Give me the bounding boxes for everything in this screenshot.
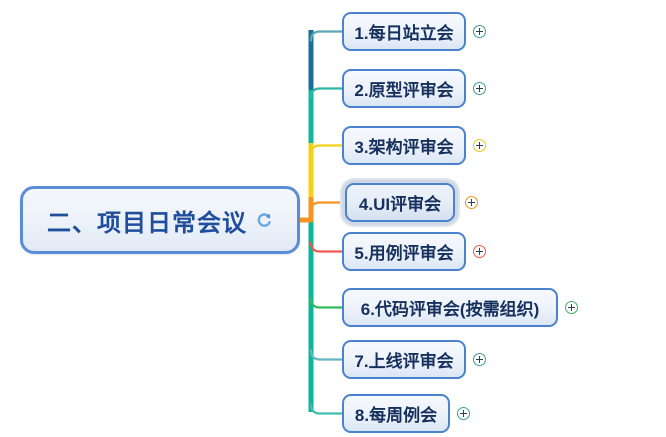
branch-line-5 bbox=[311, 243, 343, 252]
plus-icon-vertical-3 bbox=[479, 142, 480, 149]
child-node-label-1: 1.每日站立会 bbox=[354, 19, 453, 44]
child-node-label-3: 3.架构评审会 bbox=[354, 133, 453, 158]
branch-line-1 bbox=[311, 32, 343, 41]
root-node[interactable]: 二、项目日常会议 bbox=[20, 186, 300, 254]
expand-toggle-7[interactable] bbox=[473, 353, 486, 366]
plus-icon-vertical-7 bbox=[479, 356, 480, 363]
branch-line-3 bbox=[311, 146, 343, 155]
expand-toggle-4[interactable] bbox=[465, 196, 478, 209]
child-node-8[interactable]: 8.每周例会 bbox=[342, 394, 450, 433]
child-node-label-6: 6.代码评审会(按需组织) bbox=[361, 295, 540, 320]
child-node-label-5: 5.用例评审会 bbox=[354, 239, 453, 264]
root-node-label: 二、项目日常会议 bbox=[47, 203, 247, 238]
child-node-label-7: 7.上线评审会 bbox=[354, 347, 453, 372]
child-node-1[interactable]: 1.每日站立会 bbox=[342, 12, 466, 51]
refresh-icon bbox=[255, 211, 273, 229]
branch-line-2 bbox=[311, 89, 343, 98]
plus-icon-vertical-1 bbox=[479, 28, 480, 35]
child-node-2[interactable]: 2.原型评审会 bbox=[342, 69, 466, 108]
expand-toggle-1[interactable] bbox=[473, 25, 486, 38]
child-node-label-2: 2.原型评审会 bbox=[354, 76, 453, 101]
child-node-label-4: 4.UI评审会 bbox=[359, 190, 441, 215]
child-node-4[interactable]: 4.UI评审会 bbox=[345, 183, 455, 222]
child-node-5[interactable]: 5.用例评审会 bbox=[342, 232, 466, 271]
branch-line-8 bbox=[311, 405, 343, 414]
branch-line-4 bbox=[311, 203, 346, 212]
branch-line-6 bbox=[311, 299, 343, 308]
expand-toggle-8[interactable] bbox=[457, 407, 470, 420]
plus-icon-vertical-4 bbox=[471, 199, 472, 206]
branch-line-7 bbox=[311, 351, 343, 360]
child-node-3[interactable]: 3.架构评审会 bbox=[342, 126, 466, 165]
expand-toggle-6[interactable] bbox=[565, 301, 578, 314]
mindmap-canvas: 二、项目日常会议 1.每日站立会2.原型评审会3.架构评审会4.UI评审会5.用… bbox=[0, 0, 666, 437]
plus-icon-vertical-8 bbox=[463, 410, 464, 417]
child-node-7[interactable]: 7.上线评审会 bbox=[342, 340, 466, 379]
expand-toggle-5[interactable] bbox=[473, 245, 486, 258]
plus-icon-vertical-6 bbox=[571, 304, 572, 311]
expand-toggle-3[interactable] bbox=[473, 139, 486, 152]
plus-icon-vertical-2 bbox=[479, 85, 480, 92]
child-node-6[interactable]: 6.代码评审会(按需组织) bbox=[342, 288, 558, 327]
expand-toggle-2[interactable] bbox=[473, 82, 486, 95]
plus-icon-vertical-5 bbox=[479, 248, 480, 255]
child-node-label-8: 8.每周例会 bbox=[355, 401, 437, 426]
